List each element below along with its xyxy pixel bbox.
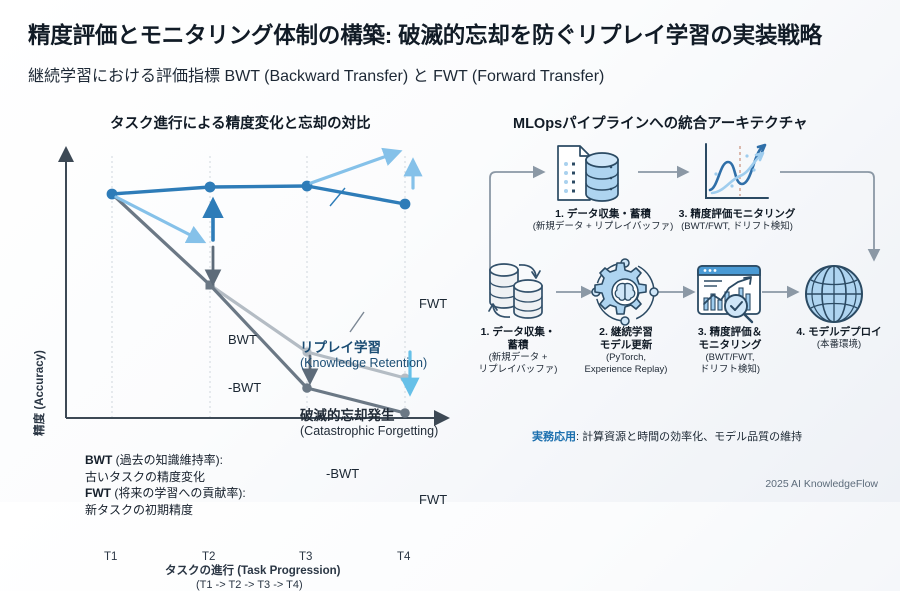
gear-brain-icon xyxy=(592,259,658,325)
footer-credit: 2025 AI KnowledgeFlow xyxy=(765,478,878,490)
legend-replay-learning: リプレイ学習 (Knowledge Retention) xyxy=(300,340,427,371)
dashboard-analytics-icon xyxy=(698,266,760,322)
node-continual-learning-caption-1: 2. 継続学習 xyxy=(572,326,680,339)
definition-bwt-rest: (過去の知識維持率): xyxy=(112,453,223,467)
node-model-deploy-sub-1: (本番環境) xyxy=(780,339,898,351)
legend-catastrophic-forgetting: 破滅的忘却発生 (Catastrophic Forgetting) xyxy=(300,408,438,439)
node-data-collection: 1. データ収集・ 蓄積 (新規データ + リプレイバッファ) xyxy=(466,326,570,376)
annotation-fwt-top: FWT xyxy=(419,296,447,311)
globe-icon xyxy=(806,266,862,322)
definition-fwt-line2: 新タスクの初期精度 xyxy=(85,502,246,519)
node-top-monitoring: 3. 精度評価モニタリング (BWT/FWT, ドリフト検知) xyxy=(642,208,832,233)
node-continual-learning-sub-2: Experience Replay) xyxy=(572,364,680,376)
page-subtitle: 継続学習における評価指標 BWT (Backward Transfer) と F… xyxy=(28,62,878,86)
practical-application-note: 実務応用: 計算資源と時間の効率化、モデル品質の維持 xyxy=(532,428,802,444)
definition-bwt-line1: BWT (過去の知識維持率): xyxy=(85,452,246,469)
legend-forget-line1: 破滅的忘却発生 xyxy=(300,408,438,424)
definitions-block: BWT (過去の知識維持率): 古いタスクの精度変化 FWT (将来の学習への貢… xyxy=(85,452,246,518)
series-replay xyxy=(107,181,411,210)
annotation-bwt: BWT xyxy=(228,332,257,347)
definition-fwt-rest: (将来の学習への貢献率): xyxy=(111,486,246,500)
node-data-collection-caption-1: 1. データ収集・ xyxy=(466,326,570,339)
page-title: 精度評価とモニタリング体制の構築: 破滅的忘却を防ぐリプレイ学習の実装戦略 xyxy=(28,18,878,50)
chart-svg xyxy=(0,130,470,450)
definition-fwt-term: FWT xyxy=(85,486,111,500)
database-cycle-icon xyxy=(489,264,542,318)
node-continual-learning: 2. 継続学習 モデル更新 (PyTorch, Experience Repla… xyxy=(572,326,680,376)
slide-root: 精度評価とモニタリング体制の構築: 破滅的忘却を防ぐリプレイ学習の実装戦略 継続… xyxy=(0,0,900,502)
practical-application-label: 実務応用 xyxy=(532,431,576,443)
node-top-monitoring-caption: 3. 精度評価モニタリング xyxy=(642,208,832,221)
legend-forget-line2: (Catastrophic Forgetting) xyxy=(300,424,438,439)
chart-tick-t4: T4 xyxy=(397,551,410,563)
practical-application-text: : 計算資源と時間の効率化、モデル品質の維持 xyxy=(576,431,802,443)
node-continual-learning-caption-2: モデル更新 xyxy=(572,339,680,352)
definition-fwt-line1: FWT (将来の学習への貢献率): xyxy=(85,485,246,502)
node-model-deploy-caption-1: 4. モデルデプロイ xyxy=(780,326,898,339)
legend-replay-line1: リプレイ学習 xyxy=(300,340,427,356)
mlops-pipeline-diagram: 1. データ収集・蓄積 (新規データ + リプレイバッファ) 3. 精度評価モニ… xyxy=(470,130,900,430)
node-data-collection-sub-1: (新規データ + xyxy=(466,352,570,364)
node-continual-learning-sub-1: (PyTorch, xyxy=(572,352,680,364)
definition-bwt-line2: 古いタスクの精度変化 xyxy=(85,469,246,486)
accuracy-forgetting-chart: 精度 (Accuracy) T1 T2 T3 T4 タスクの進行 (Task P… xyxy=(0,130,470,450)
node-model-deploy: 4. モデルデプロイ (本番環境) xyxy=(780,326,898,351)
chart-y-axis-label: 精度 (Accuracy) xyxy=(31,338,47,448)
node-evaluation-monitoring-caption-2: モニタリング xyxy=(678,339,782,352)
node-data-collection-caption-2: 蓄積 xyxy=(466,339,570,352)
document-database-icon xyxy=(558,146,618,201)
node-top-monitoring-sub: (BWT/FWT, ドリフト検知) xyxy=(642,221,832,233)
diagram-svg xyxy=(470,130,900,430)
definition-bwt-term: BWT xyxy=(85,453,112,467)
chart-x-axis-sublabel: (T1 -> T2 -> T3 -> T4) xyxy=(196,579,303,591)
arrow-fwt-gain xyxy=(311,152,398,183)
annotation-neg-bwt-lower: -BWT xyxy=(326,466,359,481)
node-evaluation-monitoring-caption-1: 3. 精度評価＆ xyxy=(678,326,782,339)
legend-replay-line2: (Knowledge Retention) xyxy=(300,356,427,371)
chart-x-axis-label: タスクの進行 (Task Progression) xyxy=(165,562,341,578)
node-evaluation-monitoring-sub-1: (BWT/FWT, xyxy=(678,352,782,364)
node-evaluation-monitoring: 3. 精度評価＆ モニタリング (BWT/FWT, ドリフト検知) xyxy=(678,326,782,376)
leader-line-forget xyxy=(350,312,364,332)
chart-tick-t1: T1 xyxy=(104,551,117,563)
annotation-neg-bwt-upper: -BWT xyxy=(228,380,261,395)
node-evaluation-monitoring-sub-2: ドリフト検知) xyxy=(678,364,782,376)
monitoring-chart-icon xyxy=(706,144,768,198)
annotation-fwt-bottom: FWT xyxy=(419,492,447,507)
arrow-fwt-initial xyxy=(116,197,202,241)
node-data-collection-sub-2: リプレイバッファ) xyxy=(466,364,570,376)
